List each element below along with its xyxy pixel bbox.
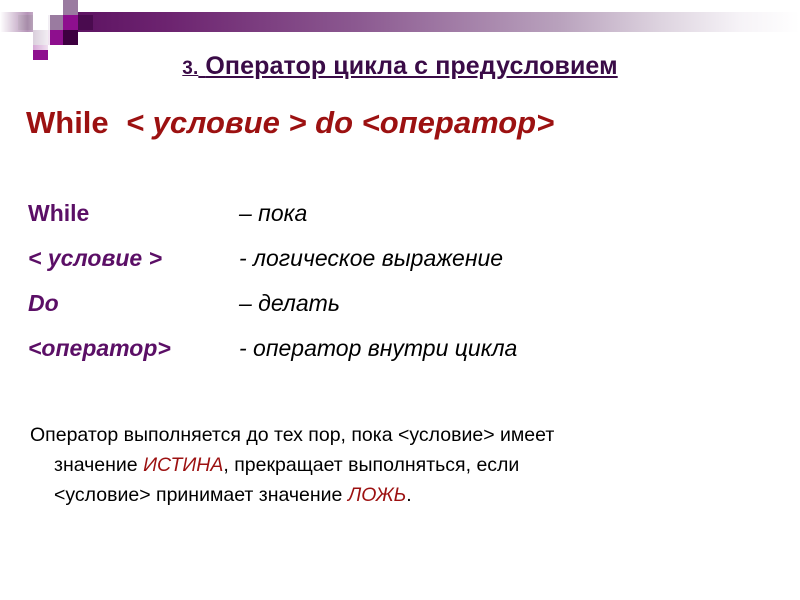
emphasis-true-value: ИСТИНА	[143, 454, 223, 476]
slide-title-number: 3.	[182, 58, 198, 79]
definition-description: - оператор внутри цикла	[239, 335, 517, 362]
syntax-line: While < условие > do <оператор>	[26, 105, 554, 141]
emphasis-false-value: ЛОЖЬ	[348, 484, 406, 506]
definition-description: – пока	[239, 200, 307, 227]
definition-row: <оператор> - оператор внутри цикла	[28, 335, 768, 380]
definition-term: Do	[28, 290, 59, 317]
syntax-condition-placeholder: < условие >	[126, 105, 307, 140]
paragraph-line-1: Оператор выполняется до тех пор, пока <у…	[30, 420, 750, 450]
paragraph-line-3: <условие> принимает значение ЛОЖЬ.	[30, 480, 750, 510]
header-square	[48, 30, 63, 45]
definition-row: While – пока	[28, 200, 768, 245]
header-square	[63, 0, 78, 15]
paragraph-text: значение	[54, 454, 143, 476]
decorative-header	[0, 0, 800, 50]
slide-title-text-wrap: Оператор цикла с предусловием	[198, 52, 617, 80]
header-gradient-bar	[0, 12, 800, 32]
slide-title: 3. Оператор цикла с предусловием	[0, 52, 800, 81]
header-square	[48, 15, 63, 30]
definition-row: < условие > - логическое выражение	[28, 245, 768, 290]
definition-list: While – пока < условие > - логическое вы…	[28, 200, 768, 380]
header-square	[48, 0, 63, 15]
paragraph-text: Оператор выполняется до тех пор, пока <у…	[30, 424, 554, 446]
paragraph-text: .	[406, 484, 411, 506]
definition-description: - логическое выражение	[239, 245, 503, 272]
definition-term: While	[28, 200, 89, 227]
syntax-keyword-do: do	[315, 105, 353, 140]
explanation-paragraph: Оператор выполняется до тех пор, пока <у…	[30, 420, 750, 510]
definition-term: < условие >	[28, 245, 162, 272]
header-square	[78, 15, 93, 30]
slide-title-text: Оператор цикла с предусловием	[205, 52, 617, 80]
paragraph-text: <условие> принимает значение	[54, 484, 348, 506]
definition-description: – делать	[239, 290, 340, 317]
header-square	[63, 30, 78, 45]
paragraph-line-2: значение ИСТИНА, прекращает выполняться,…	[30, 450, 750, 480]
syntax-keyword-while: While	[26, 105, 109, 140]
syntax-statement-placeholder: <оператор>	[362, 105, 555, 140]
definition-term: <оператор>	[28, 335, 171, 362]
definition-row: Do – делать	[28, 290, 768, 335]
header-square	[63, 15, 78, 30]
header-left-fade	[0, 0, 50, 50]
paragraph-text: , прекращает выполняться, если	[223, 454, 519, 476]
